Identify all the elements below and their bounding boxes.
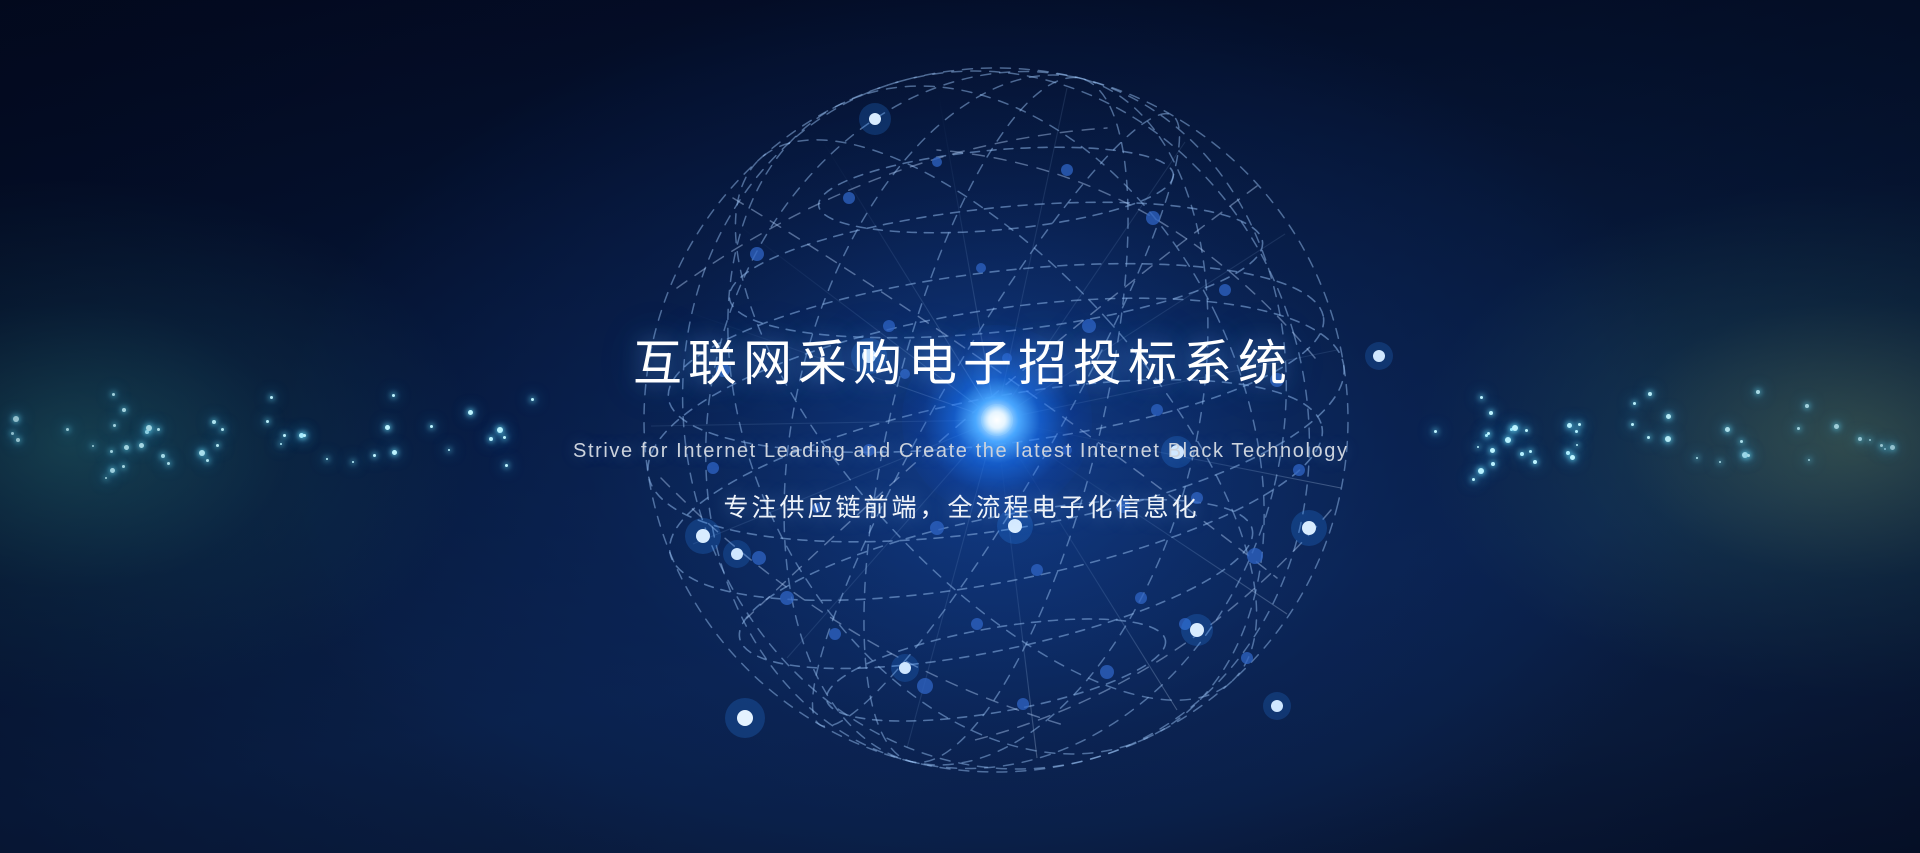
glow-dot-icon — [489, 437, 493, 441]
glow-dot-icon — [1477, 446, 1479, 448]
glow-dot-icon — [1756, 390, 1760, 394]
glow-dot-icon — [280, 443, 282, 445]
glow-dot-icon — [326, 458, 328, 460]
glow-dot-icon — [216, 444, 219, 447]
glow-dot-icon — [266, 420, 269, 423]
glow-dot-icon — [505, 464, 508, 467]
glow-dot-icon — [531, 398, 534, 401]
glow-dot-icon — [1487, 432, 1490, 435]
glow-dot-icon — [122, 465, 125, 468]
glow-dot-icon — [157, 428, 160, 431]
glow-dot-icon — [206, 459, 209, 462]
glow-dot-icon — [1696, 457, 1698, 459]
glow-dot-icon — [1566, 451, 1570, 455]
glow-dot-icon — [430, 425, 433, 428]
glow-dot-icon — [161, 454, 165, 458]
glow-dot-icon — [199, 450, 205, 456]
glow-dot-icon — [1576, 444, 1578, 446]
glow-dot-icon — [113, 424, 116, 427]
glow-dot-icon — [1858, 437, 1862, 441]
glow-dot-icon — [145, 430, 149, 434]
glow-dot-icon — [1489, 411, 1493, 415]
glow-dot-icon — [270, 396, 273, 399]
glow-dot-icon — [1834, 424, 1839, 429]
glow-dot-icon — [1665, 436, 1671, 442]
glow-dot-icon — [1533, 460, 1537, 464]
glow-dot-icon — [497, 427, 503, 433]
glow-dot-icon — [1647, 436, 1650, 439]
wireframe-globe-icon — [637, 58, 1355, 776]
glow-dot-icon — [16, 438, 20, 442]
glow-dot-icon — [1797, 427, 1800, 430]
glow-dot-icon — [1880, 444, 1883, 447]
glow-dot-icon — [122, 408, 126, 412]
glow-dot-icon — [468, 410, 473, 415]
glow-dot-icon — [1520, 452, 1524, 456]
glow-dot-icon — [1512, 425, 1518, 431]
glow-dot-icon — [1491, 462, 1495, 466]
glow-dot-icon — [221, 428, 224, 431]
glow-dot-icon — [1485, 434, 1488, 437]
glow-dot-icon — [1631, 423, 1634, 426]
glow-dot-icon — [283, 434, 286, 437]
glow-dot-icon — [1747, 454, 1750, 457]
glow-dot-icon — [110, 450, 113, 453]
glow-dot-icon — [303, 434, 306, 437]
glow-dot-icon — [112, 393, 115, 396]
glow-dot-icon — [1505, 437, 1511, 443]
glow-dot-icon — [92, 445, 94, 447]
glow-dot-icon — [1740, 440, 1743, 443]
glow-dot-icon — [1434, 430, 1437, 433]
glow-dot-icon — [1808, 459, 1810, 461]
glow-dot-icon — [1472, 478, 1475, 481]
glow-dot-icon — [1529, 450, 1532, 453]
glow-dot-icon — [1725, 427, 1730, 432]
glow-dot-icon — [1567, 423, 1572, 428]
glow-dot-icon — [110, 468, 115, 473]
glow-dot-icon — [373, 454, 376, 457]
glow-dot-icon — [1890, 445, 1895, 450]
glow-dot-icon — [124, 445, 129, 450]
glow-dot-icon — [1578, 423, 1581, 426]
glow-dot-icon — [392, 394, 395, 397]
glow-dot-icon — [1719, 461, 1721, 463]
glow-dot-icon — [11, 432, 14, 435]
glow-dot-icon — [1742, 452, 1748, 458]
glow-dot-icon — [352, 461, 354, 463]
glow-dot-icon — [1575, 430, 1578, 433]
glow-dot-icon — [1525, 429, 1528, 432]
glow-dot-icon — [299, 433, 304, 438]
glow-dot-icon — [1480, 396, 1483, 399]
hero-banner: 互联网采购电子招投标系统 Strive for Internet Leading… — [0, 0, 1920, 853]
glow-dot-icon — [1666, 414, 1671, 419]
glow-dot-icon — [1478, 468, 1484, 474]
glow-dot-icon — [146, 425, 152, 431]
glow-dot-icon — [13, 416, 19, 422]
glow-dot-icon — [139, 443, 144, 448]
glow-dot-icon — [1633, 402, 1636, 405]
glow-dot-icon — [448, 449, 450, 451]
glow-dot-icon — [1570, 455, 1575, 460]
glow-dot-icon — [105, 477, 107, 479]
glow-dot-icon — [392, 450, 397, 455]
glow-dot-icon — [167, 462, 170, 465]
glow-dot-icon — [1490, 448, 1495, 453]
glow-dot-icon — [212, 420, 216, 424]
glow-dot-icon — [385, 425, 390, 430]
glow-dot-icon — [1869, 439, 1871, 441]
glow-dot-icon — [66, 428, 69, 431]
glow-dot-icon — [1884, 448, 1886, 450]
glow-dot-icon — [1510, 428, 1513, 431]
glow-dot-icon — [1648, 392, 1652, 396]
glow-dot-icon — [1805, 404, 1809, 408]
glow-dot-icon — [503, 436, 506, 439]
